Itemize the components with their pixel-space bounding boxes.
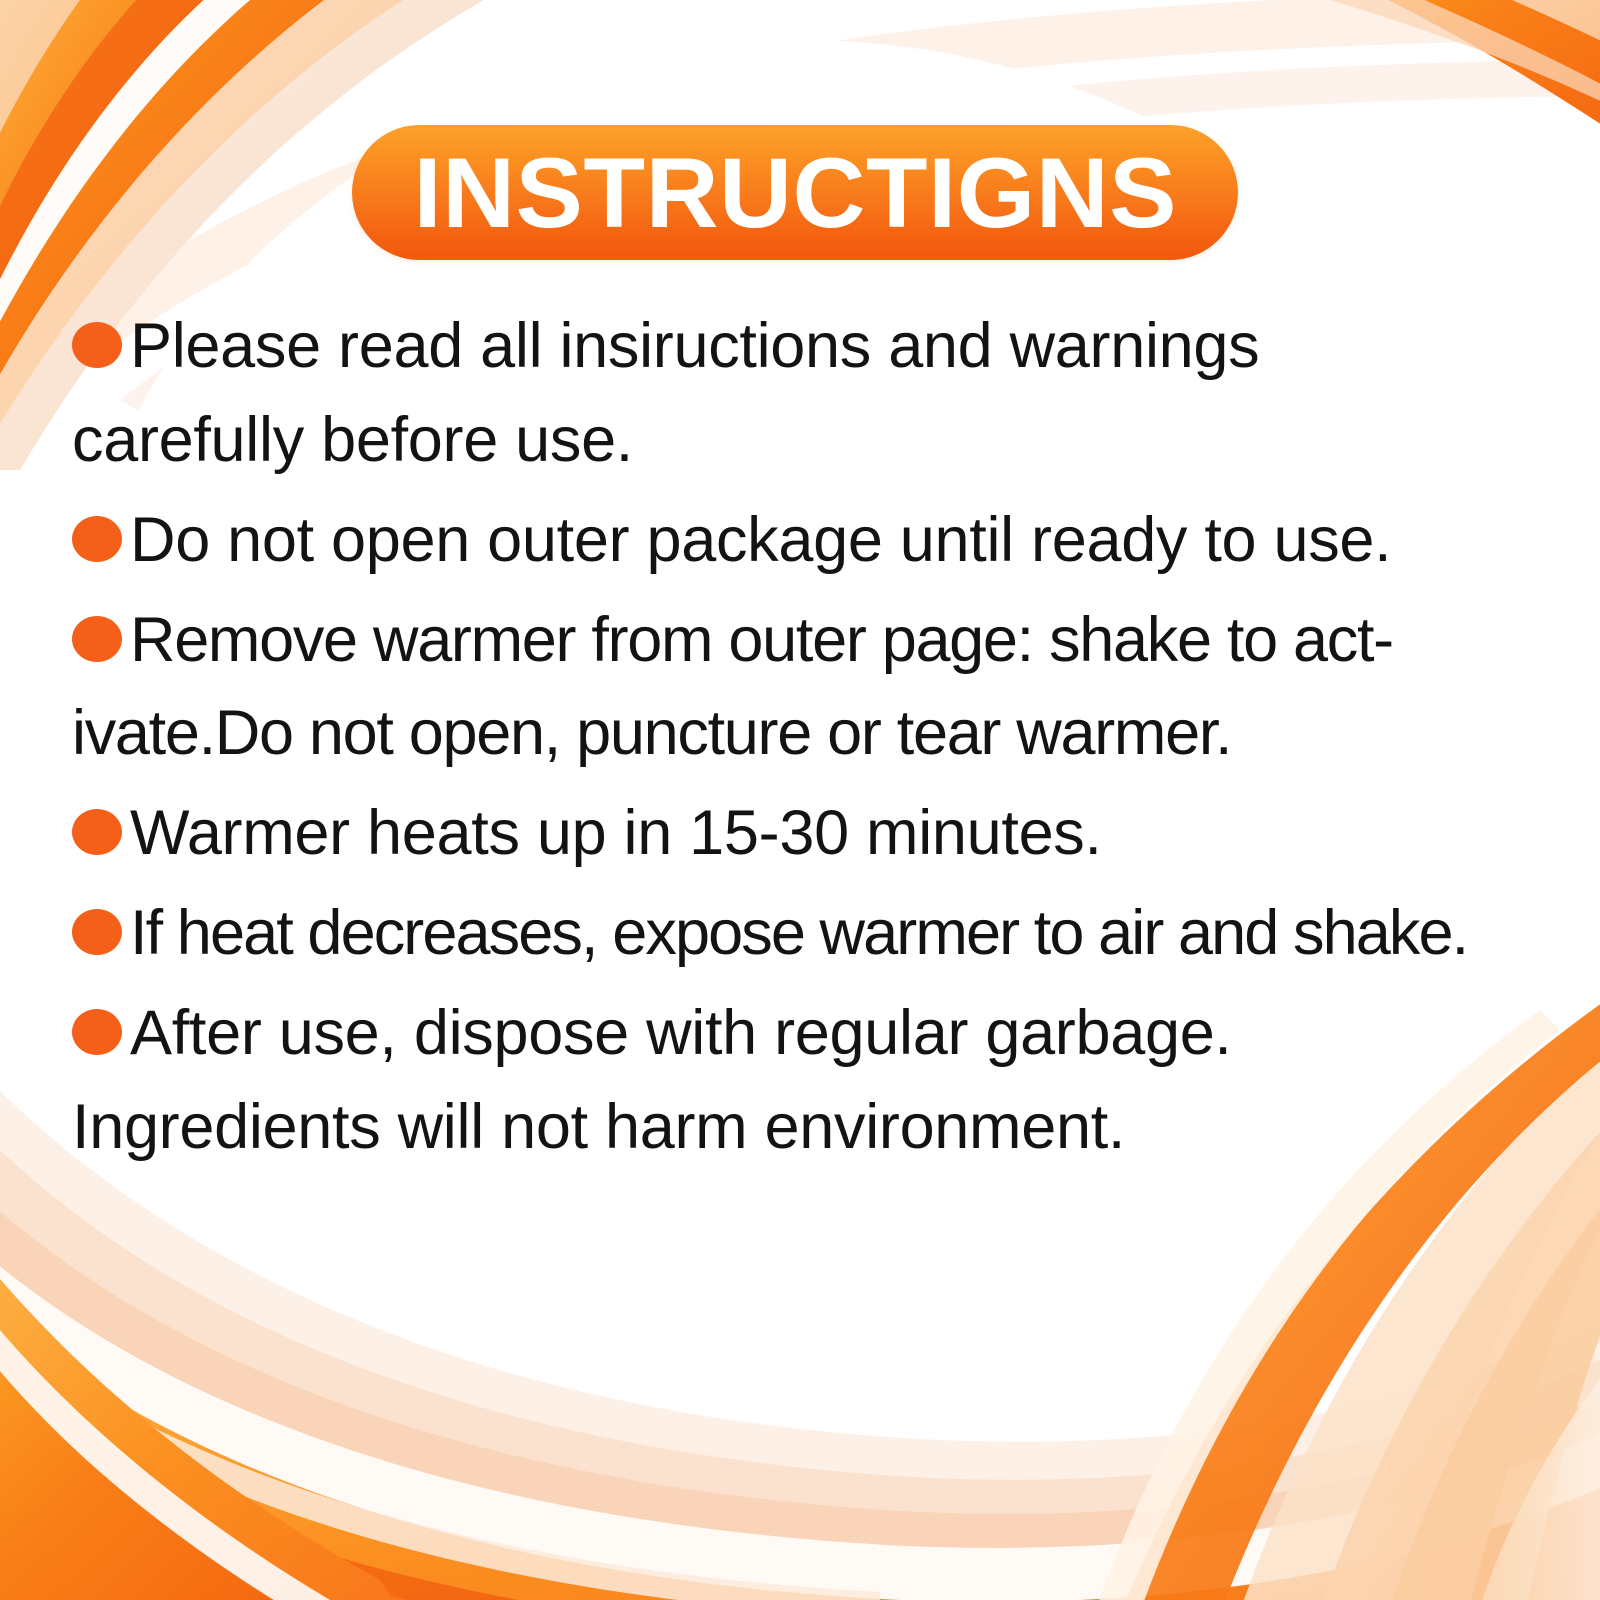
list-item-text: If heat decreases, expose warmer to air … bbox=[130, 898, 1467, 968]
instructions-title-pill: INSTRUCTIGNS bbox=[352, 125, 1238, 260]
bullet-circle-icon bbox=[72, 909, 122, 955]
list-item-text: Please read all insiructions and warning… bbox=[72, 311, 1259, 475]
wedge-bl-white-stripe bbox=[0, 1280, 360, 1600]
list-item-text: After use, dispose with regular garbage.… bbox=[72, 998, 1232, 1162]
list-item-text: Remove warmer from outer page: shake to … bbox=[72, 605, 1393, 769]
list-item: Remove warmer from outer page: shake to … bbox=[72, 594, 1542, 782]
page-title: INSTRUCTIGNS bbox=[413, 143, 1176, 242]
bullet-circle-icon bbox=[72, 616, 122, 662]
ribbon-br-peach-3 bbox=[1380, 1160, 1600, 1600]
bullet-circle-icon bbox=[72, 809, 122, 855]
bullet-circle-icon bbox=[72, 322, 122, 368]
ribbon-tr-peach bbox=[1420, 0, 1600, 60]
ribbon-bottom-orange-mid bbox=[0, 1285, 1600, 1600]
ribbon-tl-orange-bright bbox=[0, 0, 175, 300]
ribbon-bottom-peach-1 bbox=[0, 1175, 1600, 1600]
ribbon-group-bottom-left bbox=[0, 1230, 420, 1600]
ribbon-bottom-white-band bbox=[0, 1232, 1600, 1600]
instructions-panel: INSTRUCTIGNS Please read all insiruction… bbox=[0, 0, 1600, 1600]
bullet-circle-icon bbox=[72, 1009, 122, 1055]
list-item-text: Do not open outer package until ready to… bbox=[130, 505, 1391, 575]
list-item: Please read all insiructions and warning… bbox=[72, 300, 1542, 488]
bullet-circle-icon bbox=[72, 516, 122, 562]
ribbon-tr-sliver bbox=[1280, 0, 1600, 120]
ribbon-bottom-pale-2 bbox=[0, 1110, 1600, 1600]
instructions-list: Please read all insiructions and warning… bbox=[72, 300, 1542, 1181]
wedge-bl-orange bbox=[0, 1230, 420, 1600]
list-item: Do not open outer package until ready to… bbox=[72, 494, 1542, 588]
ribbon-bottom-sliver bbox=[0, 1305, 880, 1600]
ribbon-br-soft bbox=[1470, 1330, 1600, 1600]
ribbon-bottom-orange-deep bbox=[0, 1375, 880, 1600]
wedge-bl-orange-inner bbox=[0, 1320, 310, 1600]
list-item: If heat decreases, expose warmer to air … bbox=[72, 887, 1542, 981]
ribbon-group-top-right bbox=[1280, 0, 1600, 150]
list-item-text: Warmer heats up in 15-30 minutes. bbox=[130, 798, 1102, 868]
ribbon-tl-inner-peach bbox=[0, 0, 110, 225]
ribbon-tr-orange bbox=[1300, 0, 1600, 150]
ribbon-bottom-bright bbox=[0, 1420, 760, 1600]
list-item: Warmer heats up in 15-30 minutes. bbox=[72, 787, 1542, 881]
list-item: After use, dispose with regular garbage.… bbox=[72, 987, 1542, 1175]
